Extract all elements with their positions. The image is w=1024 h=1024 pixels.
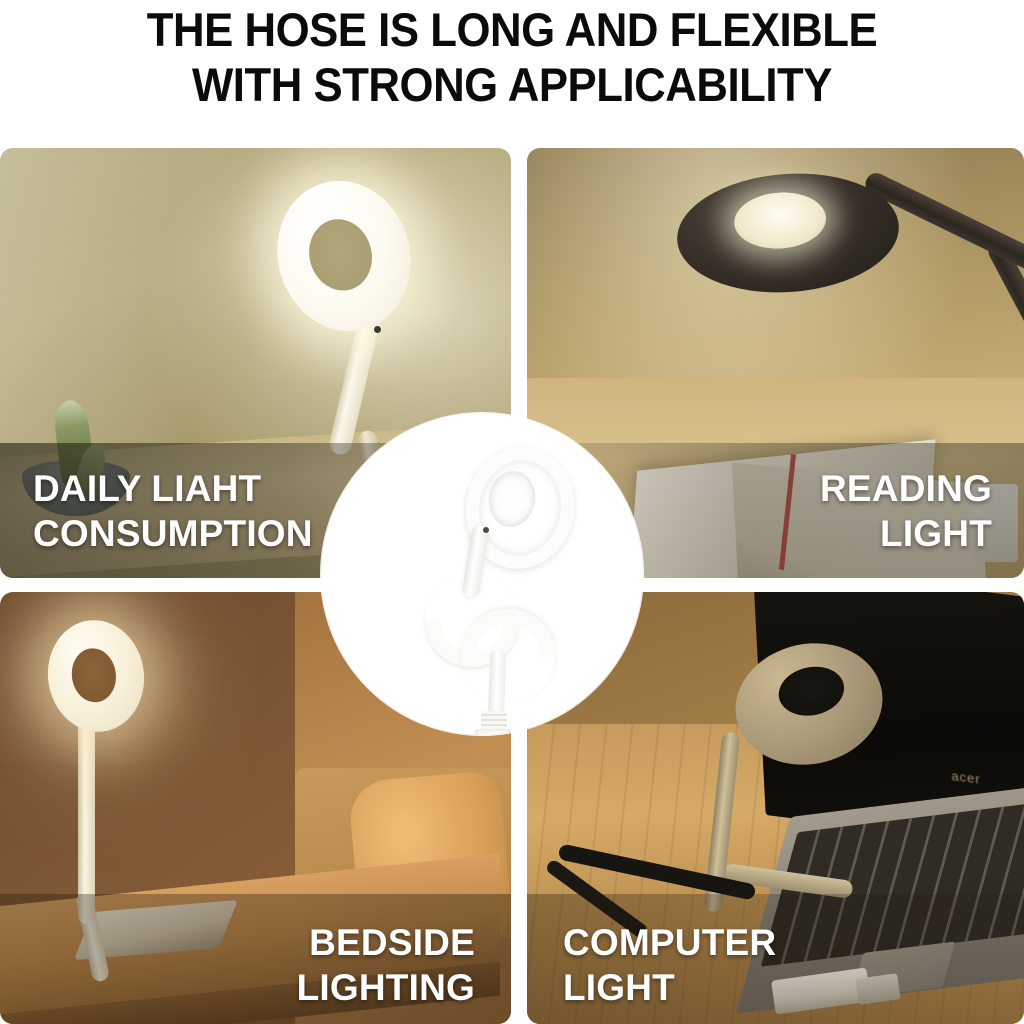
headline-line-2: WITH STRONG APPLICABILITY <box>36 57 988 112</box>
center-product-badge <box>321 413 643 735</box>
product-usb-collar <box>481 711 507 731</box>
lamp-gooseneck-upper <box>78 714 95 924</box>
product-feature-collage: THE HOSE IS LONG AND FLEXIBLE WITH STRON… <box>0 0 1024 1024</box>
panel-caption-computer-light: COMPUTER LIGHT <box>563 920 776 1010</box>
panel-caption-reading-light: READING LIGHT <box>820 466 992 556</box>
panel-caption-bedside-lighting: BEDSIDE LIGHTING <box>297 920 475 1010</box>
lamp-power-button-icon <box>374 326 381 333</box>
product-power-button-icon <box>483 527 489 533</box>
page-title: THE HOSE IS LONG AND FLEXIBLE WITH STRON… <box>36 2 988 112</box>
panel-caption-daily-light-consumption: DAILY LIAHT CONSUMPTION <box>33 466 313 556</box>
headline-line-1: THE HOSE IS LONG AND FLEXIBLE <box>36 2 988 57</box>
product-illustration <box>321 413 643 735</box>
